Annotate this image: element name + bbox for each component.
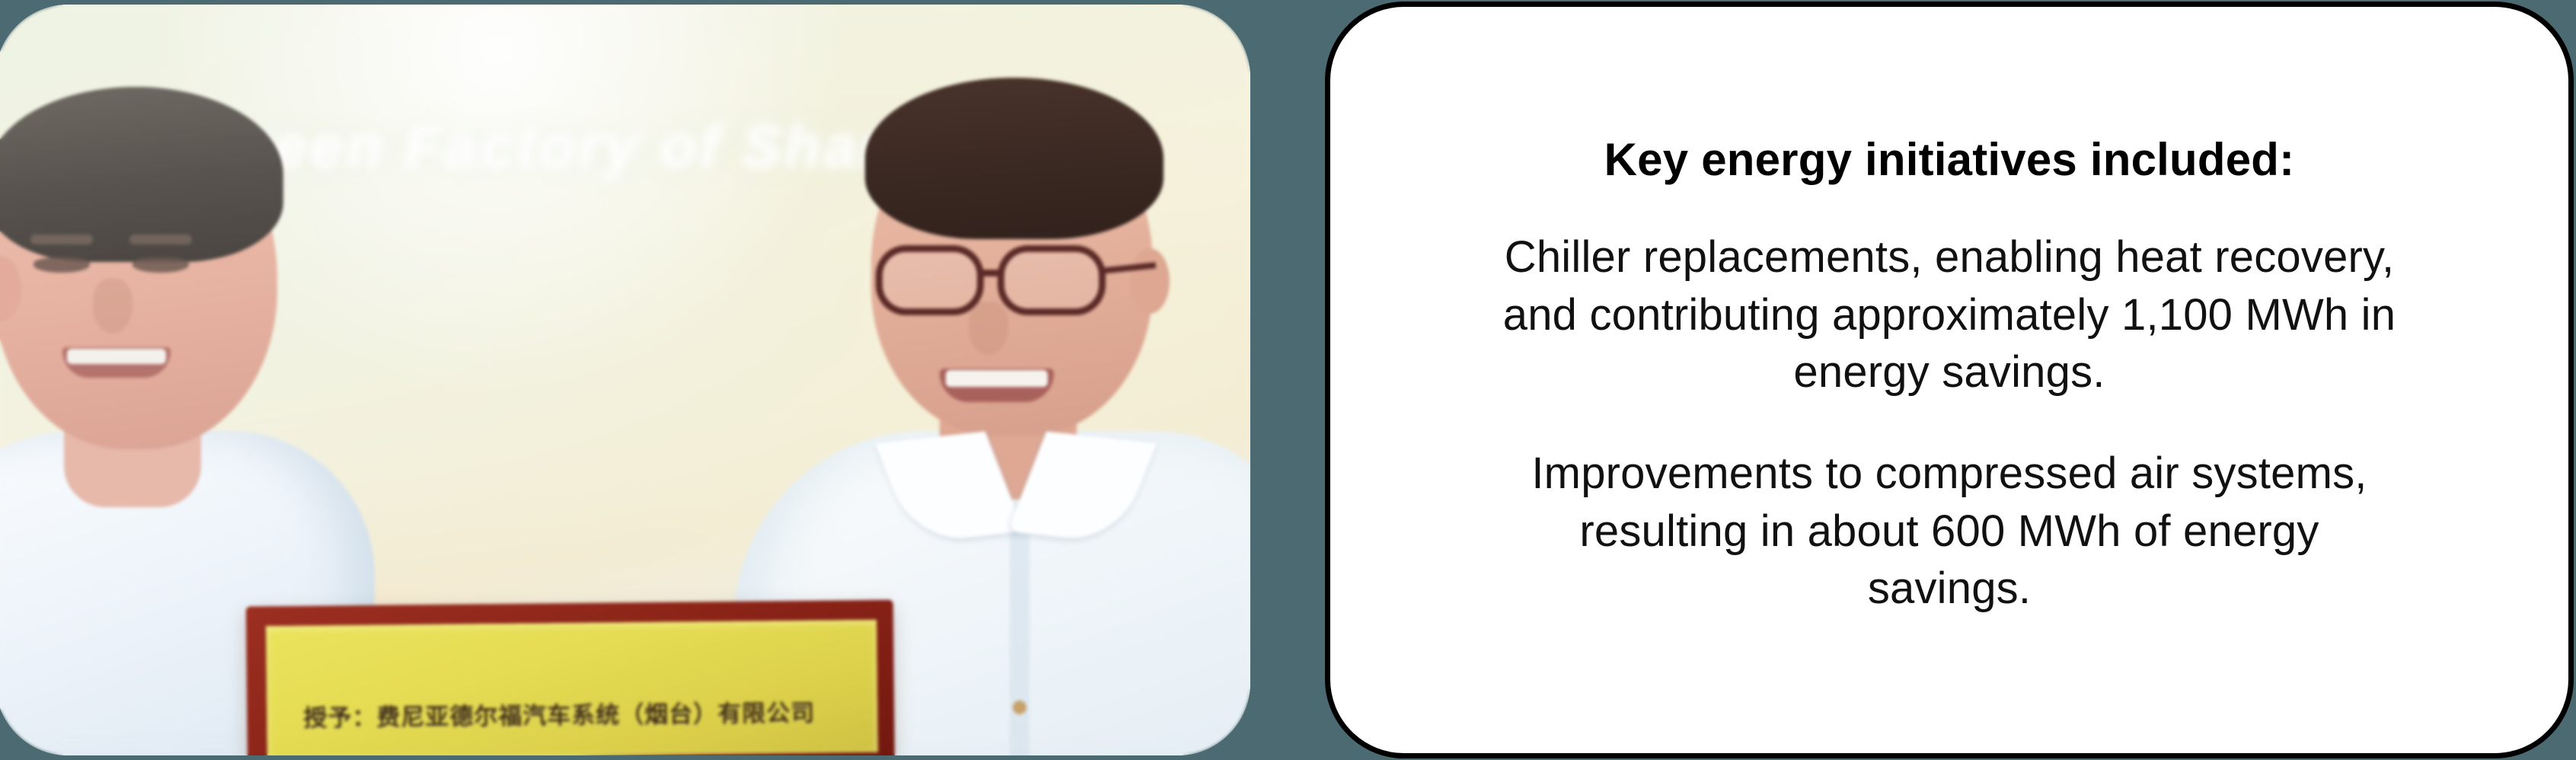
person-right-shirt-button xyxy=(1013,701,1026,714)
card-paragraph-chiller: Chiller replacements, enabling heat reco… xyxy=(1500,228,2399,401)
glasses-bridge xyxy=(981,270,1001,276)
award-plaque: 授予：费尼亚德尔福汽车系统（烟台）有限公司 xyxy=(246,600,895,755)
card-paragraph-compressed-air: Improvements to compressed air systems, … xyxy=(1500,445,2399,617)
person-left-eyebrow-left xyxy=(30,235,93,244)
key-initiatives-card: Key energy initiatives included: Chiller… xyxy=(1325,2,2574,758)
slide-root: Green Factory of Shandong xyxy=(0,0,2576,760)
award-plaque-plate: 授予：费尼亚德尔福汽车系统（烟台）有限公司 xyxy=(266,620,878,755)
glasses-lens-left xyxy=(876,245,984,315)
person-right-glasses xyxy=(876,245,1150,318)
person-left-mouth xyxy=(62,347,171,378)
glasses-lens-right xyxy=(998,245,1106,315)
card-heading: Key energy initiatives included: xyxy=(1604,133,2295,187)
person-right-hair xyxy=(865,78,1164,239)
person-right-nose xyxy=(969,302,1008,355)
person-left-eyebrow-right xyxy=(129,235,192,244)
person-left-teeth xyxy=(67,349,166,364)
person-left-eye-left xyxy=(34,257,90,273)
person-right-shirt-placket xyxy=(1010,530,1029,755)
glasses-temple xyxy=(1101,262,1156,273)
person-right-mouth xyxy=(940,369,1054,402)
person-right-teeth xyxy=(946,370,1048,387)
person-left-eye-right xyxy=(132,257,189,273)
award-plaque-text: 授予：费尼亚德尔福汽车系统（烟台）有限公司 xyxy=(303,693,870,733)
person-left-nose xyxy=(93,279,132,334)
award-photo: Green Factory of Shandong xyxy=(0,5,1250,755)
